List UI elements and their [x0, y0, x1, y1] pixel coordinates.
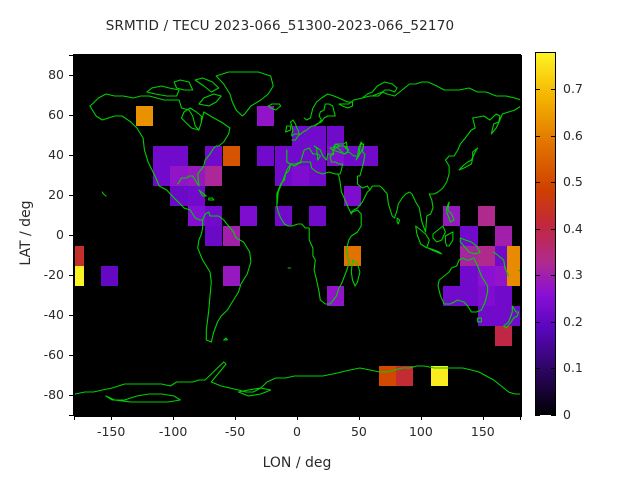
coastline-path: [351, 190, 370, 212]
coastline-path: [447, 202, 454, 222]
coastline-path: [286, 126, 291, 132]
coastline-path: [174, 80, 193, 90]
coastline-path: [292, 104, 335, 140]
x-tick-mark: [359, 415, 360, 420]
coastline-path: [304, 82, 397, 120]
coastline-path: [268, 104, 280, 110]
colorbar-tick-label: 0.6: [563, 128, 603, 143]
colorbar-tick-mark: [535, 415, 540, 416]
coastline-path: [459, 148, 478, 170]
x-tick-mark: [421, 415, 422, 420]
y-tick-mark: [69, 415, 74, 416]
x-tick-mark: [173, 415, 174, 420]
coastline-path: [90, 94, 230, 186]
y-tick-mark: [69, 395, 74, 396]
x-tick-label: -150: [81, 424, 141, 439]
coastline-path: [519, 270, 522, 272]
coastline-path: [199, 190, 206, 196]
coastline-path: [199, 94, 221, 106]
y-tick-mark: [69, 275, 74, 276]
map-plot-area[interactable]: [74, 55, 522, 417]
x-tick-label: -100: [143, 424, 203, 439]
x-tick-mark: [74, 415, 75, 420]
coastline-path: [147, 86, 179, 96]
colorbar-tick-mark: [535, 275, 540, 276]
x-tick-label: 0: [267, 424, 327, 439]
colorbar-tick-label: 0.4: [563, 221, 603, 236]
x-tick-mark: [111, 415, 112, 420]
coastline-path: [351, 260, 360, 286]
coastline-path: [198, 212, 251, 342]
coastline-path: [106, 394, 180, 402]
y-tick-label: 60: [20, 107, 64, 122]
x-axis-label: LON / deg: [74, 455, 520, 471]
coastline-path: [277, 164, 361, 304]
colorbar[interactable]: [535, 52, 556, 415]
coastline-path: [75, 362, 521, 394]
coastline-path: [195, 78, 219, 92]
coastline-path: [397, 218, 400, 224]
x-tick-label: -50: [205, 424, 265, 439]
coastline-path: [209, 198, 214, 200]
x-tick-label: 50: [329, 424, 389, 439]
coastline-path: [335, 82, 521, 232]
colorbar-tick-label: 0.3: [563, 267, 603, 282]
colorbar-tick-label: 0.1: [563, 360, 603, 375]
coastline-path: [438, 258, 488, 312]
colorbar-tick-mark: [551, 275, 556, 276]
colorbar-tick-mark: [535, 136, 540, 137]
colorbar-tick-mark: [551, 182, 556, 183]
colorbar-tick-mark: [551, 89, 556, 90]
y-tick-mark: [69, 155, 74, 156]
coastline-path: [478, 318, 482, 322]
colorbar-tick-mark: [551, 368, 556, 369]
chart-title: SRMTID / TECU 2023-066_51300-2023-066_52…: [0, 18, 560, 34]
coastline-path: [291, 120, 300, 136]
colorbar-tick-mark: [551, 322, 556, 323]
colorbar-gradient: [536, 53, 555, 414]
y-tick-label: -80: [20, 387, 64, 402]
coastline-path: [216, 72, 273, 116]
y-tick-mark: [69, 115, 74, 116]
colorbar-tick-label: 0.2: [563, 314, 603, 329]
colorbar-tick-label: 0.5: [563, 174, 603, 189]
colorbar-tick-mark: [535, 89, 540, 90]
coastline-path: [102, 192, 106, 196]
coastline-path: [428, 248, 442, 254]
y-tick-mark: [69, 75, 74, 76]
coastline-path: [494, 252, 509, 276]
colorbar-tick-label: 0.7: [563, 81, 603, 96]
coastline-path: [445, 232, 453, 246]
coastline-path: [504, 306, 519, 328]
x-tick-mark: [235, 415, 236, 420]
colorbar-tick-mark: [551, 415, 556, 416]
x-tick-mark: [297, 415, 298, 420]
colorbar-tick-mark: [535, 182, 540, 183]
coastline-path: [433, 226, 445, 242]
coastline-path: [416, 226, 430, 248]
coastline-path: [224, 338, 228, 340]
x-tick-mark: [483, 415, 484, 420]
y-tick-label: -60: [20, 347, 64, 362]
figure-canvas: SRMTID / TECU 2023-066_51300-2023-066_52…: [0, 0, 640, 480]
x-tick-label: 150: [453, 424, 513, 439]
y-tick-mark: [69, 235, 74, 236]
coastline-path: [182, 108, 202, 130]
y-axis-label: LAT / deg: [18, 143, 34, 323]
coastline-path: [460, 238, 480, 254]
coastline-overlay: [75, 56, 521, 416]
y-tick-mark: [69, 355, 74, 356]
colorbar-tick-mark: [551, 229, 556, 230]
y-tick-mark: [69, 55, 74, 56]
colorbar-tick-mark: [535, 368, 540, 369]
coastline-path: [239, 388, 271, 396]
x-tick-label: 100: [391, 424, 451, 439]
colorbar-tick-mark: [551, 136, 556, 137]
colorbar-tick-mark: [535, 229, 540, 230]
x-tick-mark: [520, 415, 521, 420]
y-tick-mark: [69, 315, 74, 316]
colorbar-tick-mark: [535, 322, 540, 323]
y-tick-mark: [69, 195, 74, 196]
y-tick-label: 80: [20, 67, 64, 82]
colorbar-tick-label: 0: [563, 407, 603, 422]
